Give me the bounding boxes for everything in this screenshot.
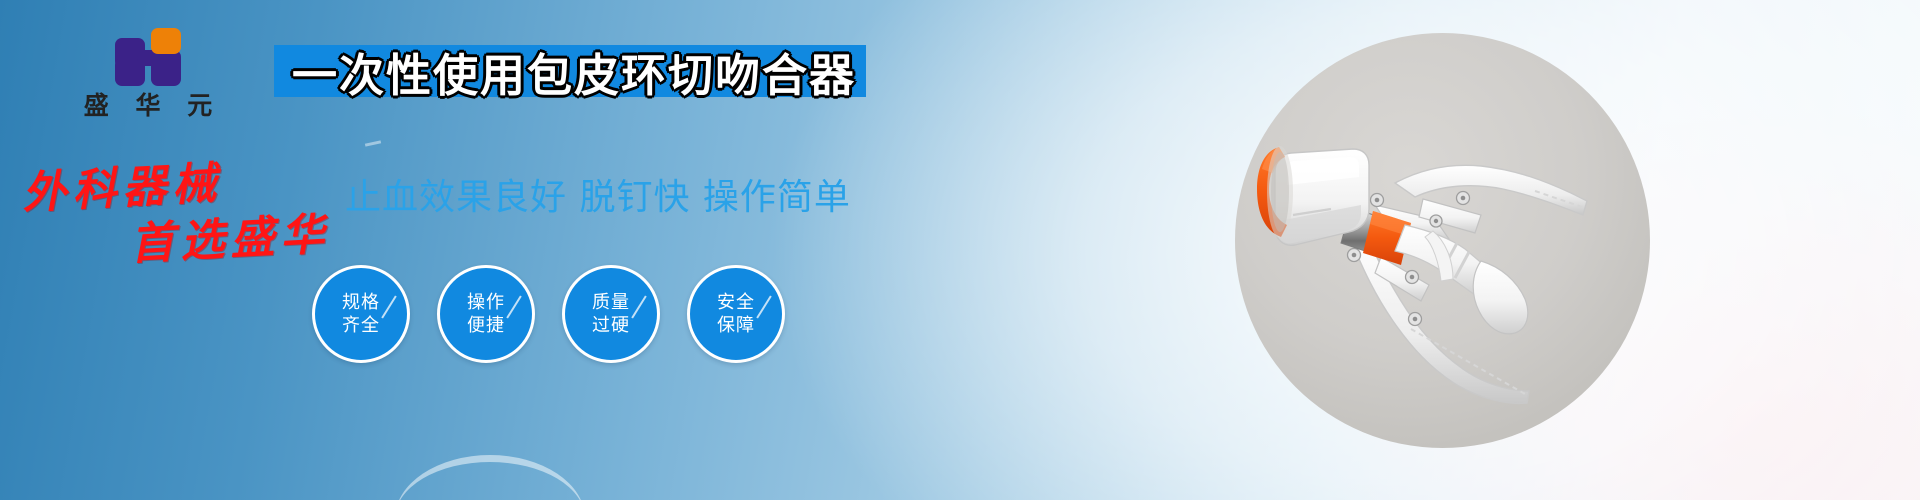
slash-icon (631, 295, 646, 318)
feature-circle-2-line1: 操作 (467, 291, 505, 314)
circumcision-stapler-illustration (1235, 33, 1650, 448)
feature-circle-3[interactable]: 质量 过硬 (562, 265, 660, 363)
feature-circle-3-line2: 过硬 (592, 314, 630, 337)
feature-circle-3-line1: 质量 (592, 291, 630, 314)
decorative-arc (395, 455, 585, 500)
calligraphy-line-2: 首选盛华 (128, 198, 331, 272)
brand-name: 盛 华 元 (58, 92, 238, 120)
feature-circle-1[interactable]: 规格 齐全 (312, 265, 410, 363)
feature-circle-4-line2: 保障 (717, 314, 755, 337)
feature-circle-4-line1: 安全 (717, 291, 755, 314)
page-title: 一次性使用包皮环切吻合器 (284, 42, 864, 100)
brand-logo-block: 盛 华 元 (58, 28, 238, 120)
product-image (1235, 33, 1650, 448)
feature-circle-1-line1: 规格 (342, 291, 380, 314)
feature-circle-list: 规格 齐全 操作 便捷 质量 过硬 安全 保障 (312, 265, 785, 363)
shenghuayuan-logo-icon (115, 28, 181, 86)
feature-circle-1-line2: 齐全 (342, 314, 380, 337)
feature-circle-2-line2: 便捷 (467, 314, 505, 337)
promo-banner: 盛 华 元 外科器械 首选盛华 一次性使用包皮环切吻合器 止血效果良好 脱钉快 … (0, 0, 1920, 500)
decorative-dash (365, 140, 381, 146)
slash-icon (506, 295, 521, 318)
slash-icon (381, 295, 396, 318)
slash-icon (756, 295, 771, 318)
feature-circle-4[interactable]: 安全 保障 (687, 265, 785, 363)
feature-circle-2[interactable]: 操作 便捷 (437, 265, 535, 363)
slogan-text: 止血效果良好 脱钉快 操作简单 (345, 168, 851, 220)
